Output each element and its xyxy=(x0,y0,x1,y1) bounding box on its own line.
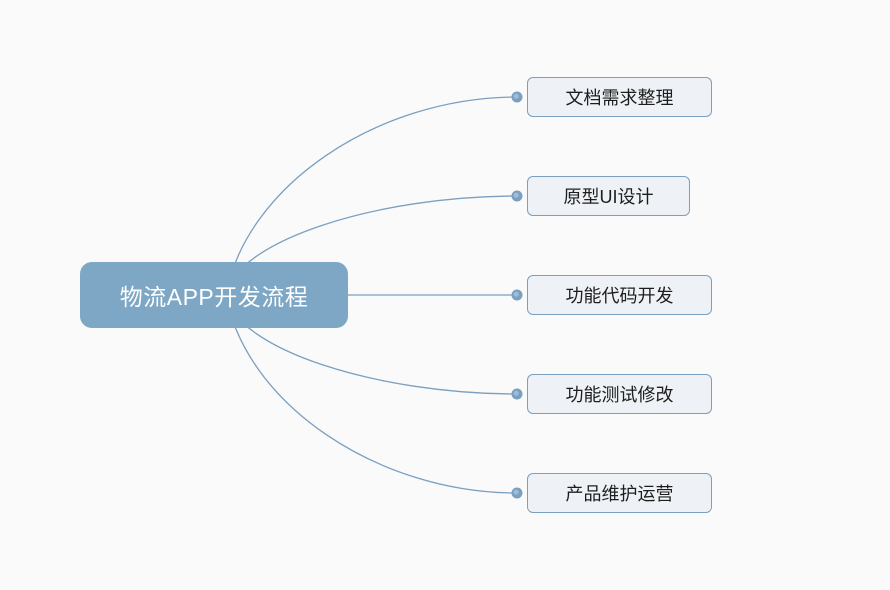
connector-dot xyxy=(512,389,523,400)
branch-node-4[interactable]: 功能测试修改 xyxy=(527,374,712,414)
branch-node-label: 文档需求整理 xyxy=(566,84,674,110)
connector-dot-highlight xyxy=(514,490,519,495)
branch-node-label: 功能代码开发 xyxy=(566,282,674,308)
branch-node-label: 原型UI设计 xyxy=(564,183,654,209)
connector-dot-highlight xyxy=(514,193,519,198)
connector-dot-highlight xyxy=(514,292,519,297)
connector-dot-highlight xyxy=(514,94,519,99)
branch-node-2[interactable]: 原型UI设计 xyxy=(527,176,690,216)
branch-node-label: 功能测试修改 xyxy=(566,381,674,407)
connector-dot xyxy=(512,191,523,202)
branch-node-3[interactable]: 功能代码开发 xyxy=(527,275,712,315)
branch-node-5[interactable]: 产品维护运营 xyxy=(527,473,712,513)
mind-map-canvas: 物流APP开发流程 文档需求整理 原型UI设计 功能代码开发 功能测试修改 产品… xyxy=(0,0,890,590)
root-node[interactable]: 物流APP开发流程 xyxy=(80,262,348,328)
branch-node-1[interactable]: 文档需求整理 xyxy=(527,77,712,117)
connector-dot-highlight xyxy=(514,391,519,396)
connector-dot xyxy=(512,92,523,103)
root-node-label: 物流APP开发流程 xyxy=(120,278,309,312)
connector-dot xyxy=(512,290,523,301)
connector-dot xyxy=(512,488,523,499)
branch-node-label: 产品维护运营 xyxy=(566,480,674,506)
